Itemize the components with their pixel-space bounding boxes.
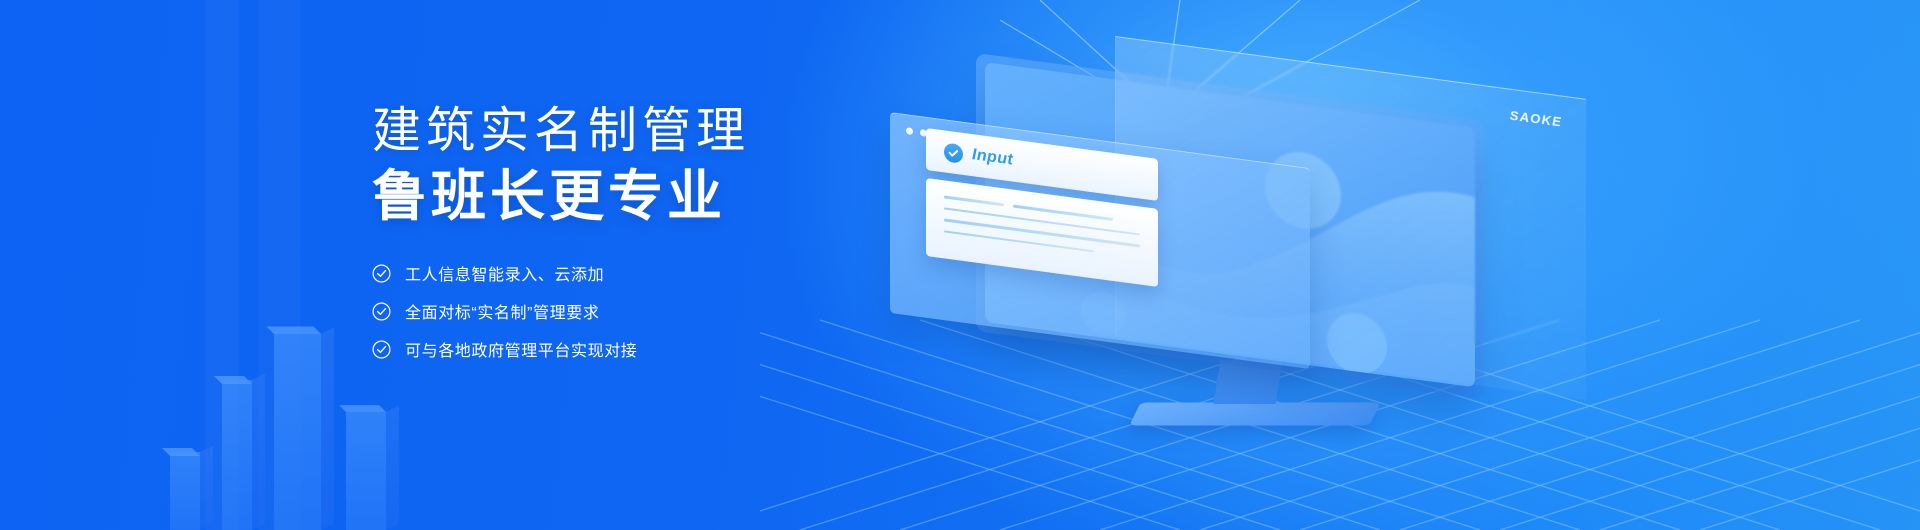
bar-front-face (346, 412, 386, 530)
text-line (944, 195, 1004, 206)
hero-copy: 建筑实名制管理 鲁班长更专业 工人信息智能录入、云添加 (372, 104, 892, 375)
brand-label: SAOKE (1510, 108, 1562, 130)
headline-line-2: 鲁班长更专业 (372, 166, 892, 228)
check-circle-icon (372, 264, 391, 283)
decor-bar (274, 334, 321, 530)
decor-bar (346, 412, 386, 530)
bar-top-face (339, 405, 386, 412)
bar-front-face (274, 334, 321, 530)
list-item-label: 工人信息智能录入、云添加 (405, 261, 604, 285)
headline-line-1: 建筑实名制管理 (372, 104, 892, 160)
hero-banner: SAOKE Input 建 (0, 0, 1920, 530)
decor-bar (170, 452, 200, 530)
bar-front-face (222, 380, 252, 530)
bar-side-face (321, 328, 334, 530)
list-item-label: 全面对标“实名制”管理要求 (405, 299, 599, 323)
bar-side-face (386, 406, 399, 530)
text-line (944, 230, 1094, 253)
feature-bullet-list: 工人信息智能录入、云添加 全面对标“实名制”管理要求 (372, 261, 892, 361)
list-item: 全面对标“实名制”管理要求 (372, 299, 892, 323)
bar-front-face (170, 452, 200, 530)
check-circle-icon (372, 302, 391, 321)
bar-top-face (267, 327, 321, 334)
monitor-base (1129, 403, 1380, 426)
input-field-label: Input (972, 146, 1013, 169)
list-item-label: 可与各地政府管理平台实现对接 (405, 337, 637, 361)
bar-side-face (200, 446, 213, 530)
text-line-row (944, 230, 1140, 259)
bar-side-face (252, 374, 265, 530)
list-item: 工人信息智能录入、云添加 (372, 261, 892, 285)
check-badge-icon (944, 142, 963, 164)
decor-bar (222, 380, 252, 530)
check-circle-icon (372, 340, 391, 359)
window-dot-red-icon (906, 127, 913, 135)
list-item: 可与各地政府管理平台实现对接 (372, 337, 892, 361)
